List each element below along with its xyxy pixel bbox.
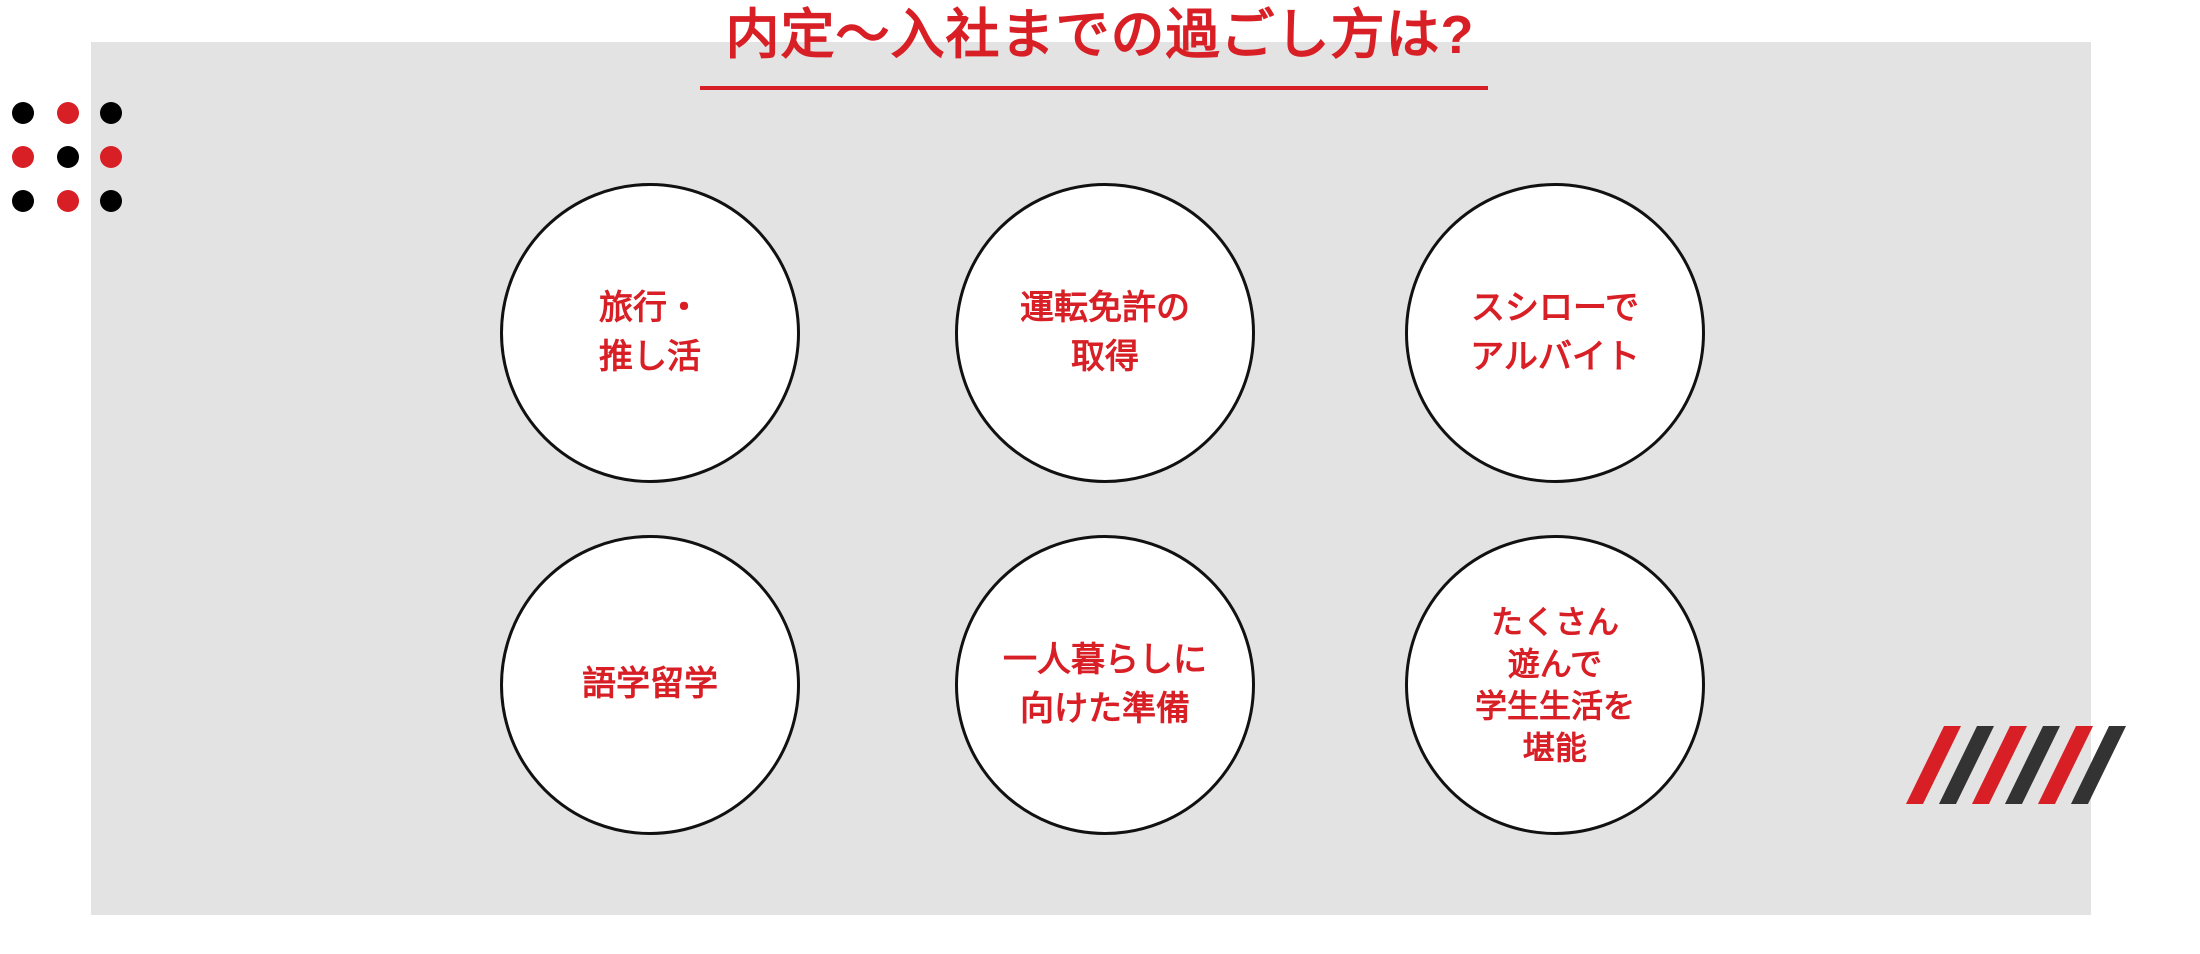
circle-label-sushiro-parttime: スシローで アルバイト xyxy=(1460,284,1650,383)
circle-travel-oshikatsu[interactable]: 旅行・ 推し活 xyxy=(500,183,800,483)
circle-label-language-study-abroad: 語学留学 xyxy=(572,660,728,709)
page-title-text: 内定〜入社までの過ごし方は? xyxy=(726,6,1475,64)
dot-black-r1c1 xyxy=(12,102,34,124)
circle-label-drivers-license: 運転免許の 取得 xyxy=(1010,284,1200,383)
dot-red-r2c1 xyxy=(12,146,34,168)
dot-grid-decoration xyxy=(12,102,134,212)
circle-label-enjoy-student-life: たくさん 遊んで 学生生活を 堪能 xyxy=(1465,601,1645,770)
diagonal-stripes-decoration xyxy=(1925,726,2125,804)
dot-red-r1c2 xyxy=(57,102,79,124)
dot-black-r1c3 xyxy=(100,102,122,124)
dot-black-r2c2 xyxy=(57,146,79,168)
circle-living-alone-prep[interactable]: 一人暮らしに 向けた準備 xyxy=(955,535,1255,835)
circle-sushiro-parttime[interactable]: スシローで アルバイト xyxy=(1405,183,1705,483)
dot-black-r3c1 xyxy=(12,190,34,212)
dot-black-r3c3 xyxy=(100,190,122,212)
title-underline xyxy=(700,86,1488,90)
dot-red-r2c3 xyxy=(100,146,122,168)
circle-language-study-abroad[interactable]: 語学留学 xyxy=(500,535,800,835)
circle-drivers-license[interactable]: 運転免許の 取得 xyxy=(955,183,1255,483)
circle-label-travel-oshikatsu: 旅行・ 推し活 xyxy=(589,284,711,383)
circle-enjoy-student-life[interactable]: たくさん 遊んで 学生生活を 堪能 xyxy=(1405,535,1705,835)
slide-canvas: 内定〜入社までの過ごし方は? 旅行・ 推し活運転免許の 取得スシローで アルバイ… xyxy=(0,0,2200,954)
circle-label-living-alone-prep: 一人暮らしに 向けた準備 xyxy=(993,636,1217,735)
dot-red-r3c2 xyxy=(57,190,79,212)
page-title: 内定〜入社までの過ごし方は? xyxy=(0,6,2200,64)
